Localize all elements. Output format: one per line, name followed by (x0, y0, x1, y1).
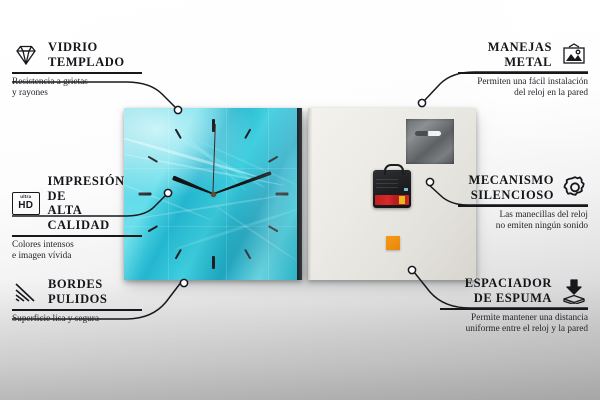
clock-front-face (124, 108, 302, 280)
callout-description-line-2: del reloj en la pared (458, 88, 588, 100)
callout-description-line-1: Permite mantener una distancia (440, 313, 588, 325)
callout-description-line-2: no emiten ningún sonido (458, 221, 588, 233)
clock-back-panel (308, 108, 476, 280)
mechanism-detail-line (376, 187, 398, 188)
mechanism-hook (384, 164, 404, 175)
polished-edges-icon (12, 281, 40, 303)
callout-vidrio-templado: VIDRIO TEMPLADO Resistencia a grietas y … (12, 40, 142, 100)
foam-spacer-icon (560, 278, 588, 304)
callout-rule (12, 72, 142, 74)
back-panel-edge (308, 108, 312, 280)
callout-mecanismo-silencioso: MECANISMO SILENCIOSO Las manecillas del … (458, 173, 588, 233)
diamond-icon (12, 44, 40, 66)
callout-description-line-1: Permiten una fácil instalación (458, 77, 588, 89)
callout-description-line-2: y rayones (12, 88, 142, 100)
callout-title-line-1: BORDES (48, 277, 107, 292)
callout-description-line-1: Colores intensos (12, 240, 142, 252)
callout-title-line-1: IMPRESIÓN DE (48, 174, 143, 203)
picture-frame-icon (560, 43, 588, 67)
callout-description-line-2: e imagen vívida (12, 251, 142, 263)
callout-rule (458, 72, 588, 74)
callout-title-line-1: ESPACIADOR (465, 276, 552, 291)
callout-title-line-2: ALTA CALIDAD (48, 203, 143, 232)
quartz-mechanism (373, 170, 411, 208)
callout-description-line-1: Las manecillas del reloj (458, 210, 588, 222)
callout-rule (458, 205, 588, 207)
mechanism-indicator (404, 188, 408, 191)
hanger-keyhole-slot (415, 131, 441, 136)
callout-description-line-1: Superficie lisa y segura (12, 314, 142, 326)
callout-title-line-1: MECANISMO (468, 173, 554, 188)
battery (375, 195, 409, 205)
ultra-hd-badge-icon: ultra HD (12, 192, 40, 215)
callout-title-line-1: VIDRIO (48, 40, 125, 55)
metal-hanger-plate (406, 119, 454, 164)
infographic-canvas: VIDRIO TEMPLADO Resistencia a grietas y … (0, 0, 600, 400)
callout-rule (440, 308, 588, 310)
callout-description-line-2: uniforme entre el reloj y la pared (440, 324, 588, 336)
gear-icon (562, 175, 588, 200)
product-image (124, 108, 476, 280)
callout-espaciador-de-espuma: ESPACIADOR DE ESPUMA Permite mantener un… (440, 276, 588, 336)
hd-badge-bottom-text: HD (18, 201, 33, 211)
callout-title-line-2: TEMPLADO (48, 55, 125, 70)
callout-rule (12, 309, 142, 311)
glass-reflection (124, 108, 302, 280)
callout-bordes-pulidos: BORDES PULIDOS Superficie lisa y segura (12, 277, 142, 325)
battery-terminal (399, 196, 405, 204)
callout-title-line-2: SILENCIOSO (468, 188, 554, 203)
foam-spacer (386, 236, 400, 250)
callout-description-line-1: Resistencia a grietas (12, 77, 142, 89)
callout-title-line-2: PULIDOS (48, 292, 107, 307)
callout-impresion-alta-calidad: ultra HD IMPRESIÓN DE ALTA CALIDAD Color… (12, 174, 142, 263)
callout-manejas-metal: MANEJAS METAL Permiten una fácil instala… (458, 40, 588, 100)
callout-rule (12, 235, 142, 237)
mechanism-detail-line (376, 183, 398, 184)
callout-title-line-1: MANEJAS (488, 40, 552, 55)
mechanism-detail-line (376, 179, 398, 180)
callout-title-line-2: METAL (488, 55, 552, 70)
callout-title-line-2: DE ESPUMA (465, 291, 552, 306)
clock-side-edge (297, 108, 302, 280)
